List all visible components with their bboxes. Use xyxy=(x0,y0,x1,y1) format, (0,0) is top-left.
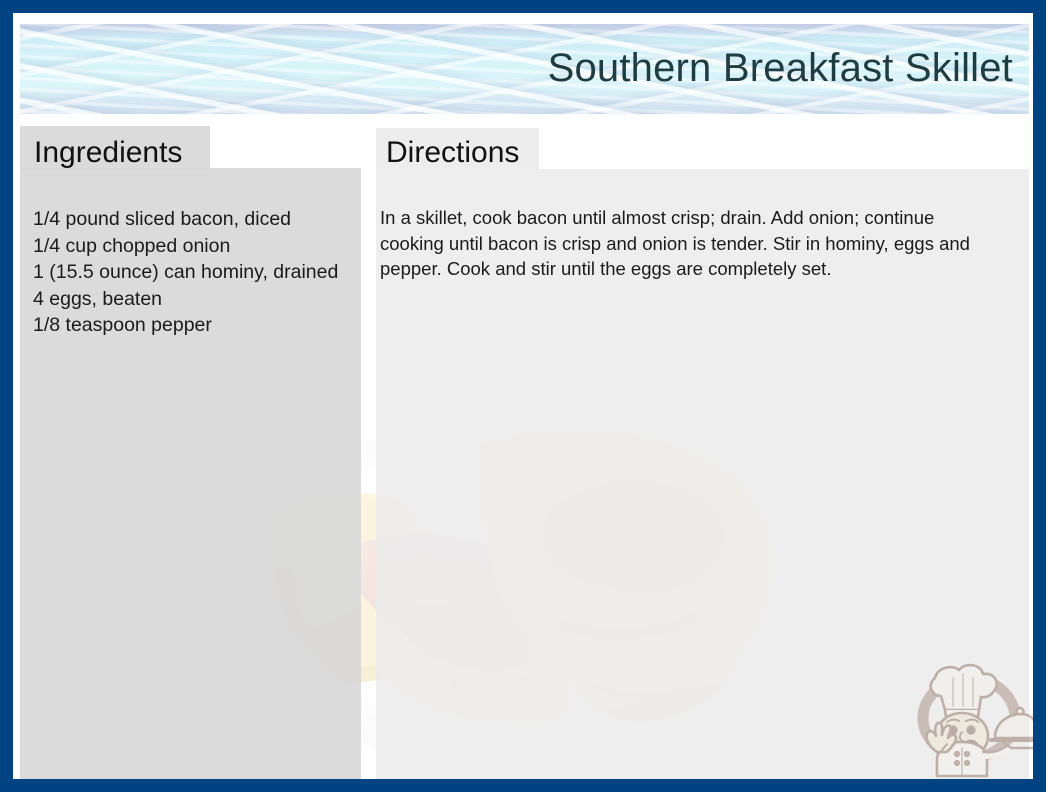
ingredients-list: 1/4 pound sliced bacon, diced 1/4 cup ch… xyxy=(33,206,351,339)
directions-heading: Directions xyxy=(386,138,519,168)
ingredients-heading: Ingredients xyxy=(34,138,182,168)
chef-mascot-logo xyxy=(907,656,1033,779)
page-inner: Southern Breakfast Skillet xyxy=(13,13,1033,779)
directions-tab: Directions xyxy=(376,128,539,170)
header-banner: Southern Breakfast Skillet xyxy=(20,24,1029,114)
ingredients-tab: Ingredients xyxy=(20,126,210,170)
directions-text: In a skillet, cook bacon until almost cr… xyxy=(380,205,997,282)
recipe-card-page: Southern Breakfast Skillet xyxy=(0,0,1046,792)
page-title: Southern Breakfast Skillet xyxy=(548,47,1013,89)
